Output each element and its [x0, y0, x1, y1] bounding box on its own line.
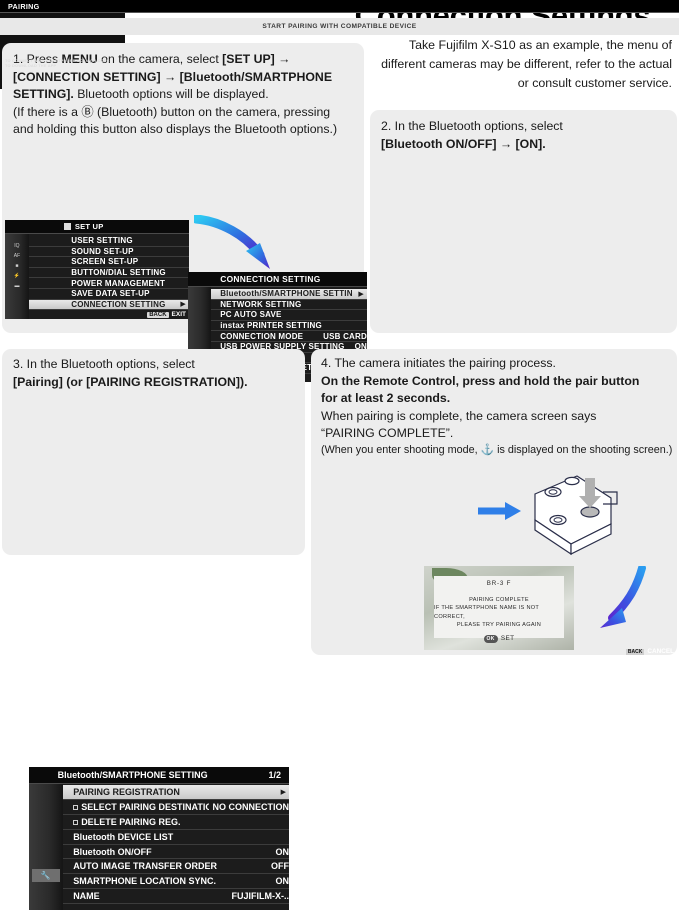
pair-button: [581, 507, 599, 517]
pairing-complete-dialog: BR-3 F PAIRING COMPLETE IF THE SMARTPHON…: [434, 576, 564, 638]
menu-row-value: USB CARD: [319, 332, 367, 341]
pairing-complete-line1: PAIRING COMPLETE: [469, 596, 529, 605]
menu-row-label: POWER MANAGEMENT: [71, 279, 189, 288]
menu-row-label: SCREEN SET-UP: [71, 257, 189, 266]
setup-exit: BACK EXIT: [147, 311, 186, 318]
menu-row-value: NO CONNECTION: [209, 802, 290, 812]
menu-row-label: DELETE PAIRING REG.: [73, 817, 289, 827]
menu-row-label: NAME: [73, 891, 227, 901]
menu-row-label: Bluetooth DEVICE LIST: [73, 832, 289, 842]
menu-row[interactable]: PAIRING REGISTRATION▶: [63, 785, 289, 800]
arrow-down-left-icon: [592, 566, 650, 640]
pairing-note: TO CONNECT WITH SMARTPHONE SCAN QR CODE …: [5, 58, 110, 69]
menu-row[interactable]: SOUND SET-UP: [29, 247, 189, 258]
bt3-header-label: Bluetooth/SMARTPHONE SETTING: [58, 770, 208, 780]
step1-line3-b: Bluetooth options will be displayed.: [74, 87, 269, 101]
pairing-header: PAIRING: [0, 0, 679, 13]
menu-row-label: Bluetooth/SMARTPHONE SETTING: [220, 289, 353, 298]
menu-row-label: BUTTON/DIAL SETTING: [71, 268, 189, 277]
checkbox-icon: [73, 805, 78, 810]
menu-row-value: ON: [272, 847, 290, 857]
menu-row-label: SOUND SET-UP: [71, 247, 189, 256]
step-1-panel: 1. Press MENU on the camera, select [SET…: [2, 43, 364, 333]
step-3-panel: 3. In the Bluetooth options, select [Pai…: [2, 349, 305, 555]
step4-line6: (When you enter shooting mode, ⚓ is disp…: [321, 443, 673, 458]
menu-row[interactable]: DELETE PAIRING REG.: [63, 815, 289, 830]
iq-icon: IQ: [14, 243, 19, 249]
menu-row[interactable]: Bluetooth/SMARTPHONE SETTING▶: [211, 289, 367, 300]
arrow-right-icon: [477, 500, 523, 522]
menu-row[interactable]: SAVE DATA SET-UP: [29, 289, 189, 300]
intro-note: Take Fujifilm X-S10 as an example, the m…: [372, 36, 672, 93]
menu-row-label: NETWORK SETTING: [220, 300, 367, 309]
camera-bluetooth-menu-step3: Bluetooth/SMARTPHONE SETTING 1/2 PAIRING…: [29, 767, 289, 910]
pairing-cancel-key: BACK: [626, 649, 644, 655]
menu-row[interactable]: Bluetooth ON/OFFON: [63, 845, 289, 860]
connection-menu-header: CONNECTION SETTING: [188, 272, 367, 287]
setup-exit-label: EXIT: [172, 311, 186, 318]
menu-row-label: instax PRINTER SETTING: [220, 321, 367, 330]
menu-row[interactable]: BUTTON/DIAL SETTING: [29, 268, 189, 279]
step2-line1: 2. In the Bluetooth options, select: [381, 118, 671, 136]
camera-pairing-complete-screen: BR-3 F PAIRING COMPLETE IF THE SMARTPHON…: [424, 566, 574, 650]
chevron-right-icon: ▶: [353, 290, 367, 298]
pairing-note-line2: TO DOWNLOAD THE APP: [5, 63, 110, 68]
af-icon: AF: [14, 253, 20, 259]
setup-rail-icons: IQ AF ■ ⚡ ▬: [7, 236, 27, 296]
menu-row-label: PC AUTO SAVE: [220, 310, 367, 319]
step4-line2: On the Remote Control, press and hold th…: [321, 374, 639, 388]
step4-line4: When pairing is complete, the camera scr…: [321, 408, 673, 426]
pairing-instruction: START PAIRING WITH COMPATIBLE DEVICE: [0, 18, 679, 35]
menu-row-label: AUTO IMAGE TRANSFER ORDER: [73, 861, 267, 871]
step1-line4: (If there is a Ⓑ (Bluetooth) button on t…: [13, 104, 361, 122]
menu-rail: [29, 767, 63, 910]
pairing-cancel-label: CANCEL: [647, 648, 674, 655]
menu-row[interactable]: Bluetooth DEVICE LIST: [63, 830, 289, 845]
pairing-complete-line3: PLEASE TRY PAIRING AGAIN: [457, 621, 541, 630]
menu-row-label: PAIRING REGISTRATION: [73, 787, 275, 797]
menu-row[interactable]: SELECT PAIRING DESTINATIONNO CONNECTION: [63, 800, 289, 815]
bt3-page-indicator: 1/2: [268, 770, 289, 780]
menu-row[interactable]: POWER MANAGEMENT: [29, 278, 189, 289]
setup-header-label: SET UP: [75, 222, 104, 231]
pairing-complete-set: OK SET: [484, 635, 515, 644]
step3-line1: 3. In the Bluetooth options, select: [13, 356, 303, 374]
checkbox-icon: [73, 820, 78, 825]
menu-row-label: SELECT PAIRING DESTINATION: [73, 802, 208, 812]
step1-setup-keyword: [SET UP]: [222, 52, 275, 66]
step1-line1-e: →: [275, 52, 291, 66]
camera-setup-menu: SET UP USER SETTINGSOUND SET-UPSCREEN SE…: [5, 220, 189, 319]
step-2-text: 2. In the Bluetooth options, select [Blu…: [381, 118, 671, 153]
ok-key: OK: [484, 635, 498, 644]
arrow-down-right-icon: [194, 215, 282, 277]
step4-line5: “PAIRING COMPLETE”.: [321, 425, 673, 443]
menu-row[interactable]: SMARTPHONE LOCATION SYNC.ON: [63, 874, 289, 889]
menu-row-label: CONNECTION SETTING: [71, 300, 175, 309]
menu-row[interactable]: instax PRINTER SETTING: [211, 321, 367, 332]
menu-row-value: FUJIFILM-X-..: [228, 891, 290, 901]
setup-header-icon: [64, 223, 71, 230]
menu-row-label: SAVE DATA SET-UP: [71, 289, 189, 298]
step4-line1: 4. The camera initiates the pairing proc…: [321, 355, 673, 373]
menu-row-label: Bluetooth ON/OFF: [73, 847, 271, 857]
menu-row-label: SMARTPHONE LOCATION SYNC.: [73, 876, 271, 886]
movie-icon: ▬: [14, 283, 19, 289]
menu-row[interactable]: NAMEFUJIFILM-X-..: [63, 889, 289, 904]
menu-row-value: ON: [272, 876, 290, 886]
flash-icon: ⚡: [14, 273, 20, 279]
step1-line1-c: on the camera, select: [98, 52, 222, 66]
menu-row[interactable]: AUTO IMAGE TRANSFER ORDEROFF: [63, 860, 289, 875]
step1-line3-a: SETTING].: [13, 87, 74, 101]
step1-line5: and holding this button also displays th…: [13, 121, 361, 139]
menu-row-label: CONNECTION MODE: [220, 332, 319, 341]
setup-exit-key: BACK: [147, 312, 168, 318]
wrench-icon: 🔧: [32, 869, 61, 882]
paired-device-name: BR-3 F: [487, 580, 511, 589]
step4-line3: for at least 2 seconds.: [321, 391, 450, 405]
menu-row-value: OFF: [267, 861, 289, 871]
step-2-panel: 2. In the Bluetooth options, select [Blu…: [370, 110, 677, 333]
step3-line2: [Pairing] (or [PAIRING REGISTRATION]).: [13, 375, 248, 389]
step1-line2: [CONNECTION SETTING] → [Bluetooth/SMARTP…: [13, 70, 332, 84]
menu-row[interactable]: CONNECTION MODEUSB CARD: [211, 331, 367, 342]
menu-row[interactable]: USER SETTING: [29, 236, 189, 247]
menu-row-label: USER SETTING: [71, 236, 189, 245]
menu-row[interactable]: SCREEN SET-UP: [29, 257, 189, 268]
menu-row[interactable]: NETWORK SETTING: [211, 300, 367, 311]
bt3-header: Bluetooth/SMARTPHONE SETTING 1/2: [29, 767, 289, 784]
pairing-cancel: BACK CANCEL: [626, 648, 674, 655]
camera-icon: ■: [15, 263, 18, 269]
step2-line2: [Bluetooth ON/OFF] → [ON].: [381, 137, 546, 151]
setup-menu-header: SET UP: [5, 220, 189, 234]
set-label: SET: [501, 635, 515, 644]
menu-row[interactable]: CONNECTION SETTING▶: [29, 300, 189, 311]
step-3-text: 3. In the Bluetooth options, select [Pai…: [13, 356, 303, 391]
remote-control-illustration: [525, 468, 619, 560]
pairing-complete-line2: IF THE SMARTPHONE NAME IS NOT CORRECT,: [434, 604, 564, 621]
menu-row[interactable]: PC AUTO SAVE: [211, 310, 367, 321]
chevron-right-icon: ▶: [276, 788, 289, 796]
step-4-text: 4. The camera initiates the pairing proc…: [321, 355, 673, 458]
chevron-right-icon: ▶: [175, 300, 189, 308]
